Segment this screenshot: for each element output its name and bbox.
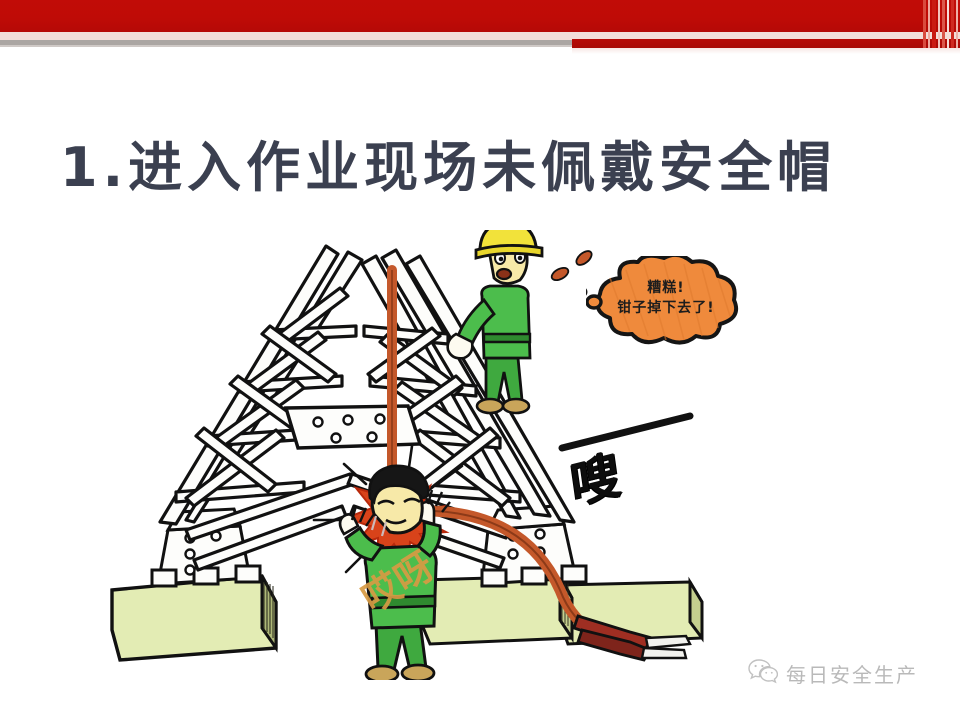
speech-line-1: 糟糕! <box>586 278 746 298</box>
watermark: 每日安全生产 <box>748 658 918 689</box>
banner-red-band <box>0 0 960 32</box>
banner-fade <box>572 48 960 54</box>
slide-canvas: 1.进入作业现场未佩戴安全帽 <box>0 0 960 720</box>
banner-gray-rule-soft <box>0 45 572 47</box>
top-banner <box>0 0 960 56</box>
speech-bubble-text: 糟糕! 钳子掉下去了! <box>586 278 746 318</box>
page-title: 1.进入作业现场未佩戴安全帽 <box>60 133 820 203</box>
wechat-icon <box>748 658 778 689</box>
speech-line-2: 钳子掉下去了! <box>586 298 746 318</box>
banner-right-stripes <box>920 0 960 48</box>
sfx-whoosh-text: 嗖 <box>566 434 625 518</box>
banner-darkred-bar <box>572 39 960 48</box>
watermark-text: 每日安全生产 <box>786 659 918 688</box>
center-gusset-plate <box>286 406 420 448</box>
speech-bubble-falling-tool: 糟糕! 钳子掉下去了! <box>586 256 746 352</box>
